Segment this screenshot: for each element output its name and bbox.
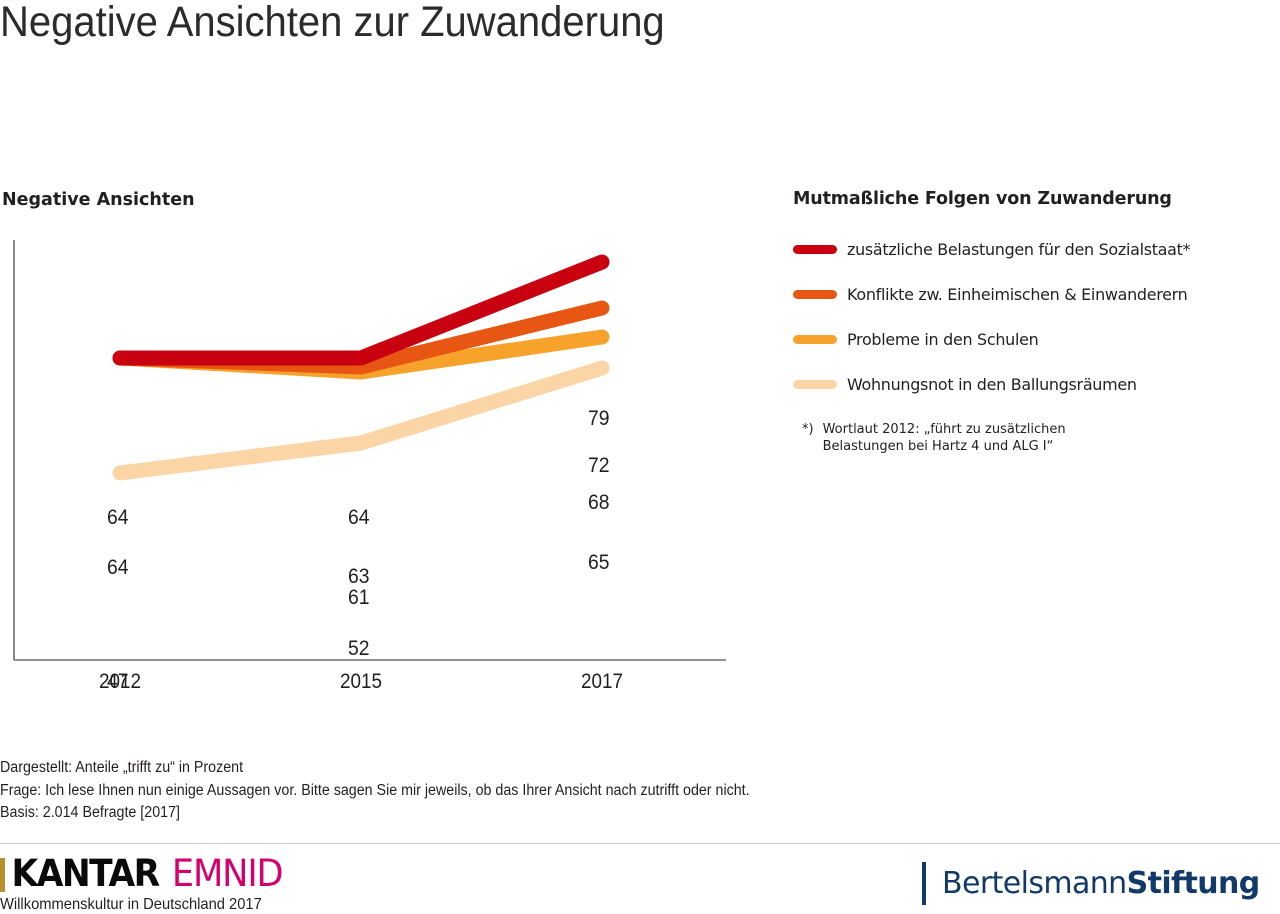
bertelsmann-bar-icon [922,862,926,905]
stiftung-wordmark: Stiftung [1127,866,1260,901]
x-axis-tick-2012: 2012 [99,670,141,694]
legend-swatch-icon [793,380,837,389]
line-chart-plot: 64 64 47 64 63 61 52 79 72 68 65 2012 20… [0,180,760,720]
kantar-bar-icon [0,858,5,892]
legend-swatch-icon [793,290,837,299]
chart-legend: Mutmaßliche Folgen von Zuwanderung zusät… [793,189,1280,455]
x-axis-tick-2017: 2017 [581,670,623,694]
legend-item-wohnungsnot: Wohnungsnot in den Ballungsräumen [793,373,1280,395]
page-title: Negative Ansichten zur Zuwanderung [0,0,665,47]
note-basis: Basis: 2.014 Befragte [2017] [0,802,1012,825]
bertelsmann-wordmark: Bertelsmann [942,866,1127,901]
x-axis-tick-2015: 2015 [340,670,382,694]
note-dargestellt: Dargestellt: Anteile „trifft zu“ in Proz… [0,757,1012,780]
footnote-marker: *) [802,421,814,455]
legend-footnote: *) Wortlaut 2012: „führt zu zusätzlichen… [802,421,1280,455]
value-label: 72 [588,453,610,478]
legend-item-label: Wohnungsnot in den Ballungsräumen [847,375,1137,394]
footer-divider [0,843,1280,844]
legend-item-sozialstaat: zusätzliche Belastungen für den Sozialst… [793,238,1280,260]
value-label: 61 [348,585,370,610]
logo-tagline: Willkommenskultur in Deutschland 2017 [0,896,263,914]
kantar-wordmark: KANTAR [12,852,159,895]
value-label: 64 [107,555,129,580]
series-line-wohnungsnot [120,368,602,473]
legend-item-label: Probleme in den Schulen [847,330,1038,349]
value-label: 52 [348,636,370,661]
legend-item-schulen: Probleme in den Schulen [793,328,1280,350]
chart-panel: Negative Ansichten 64 64 47 64 63 61 52 … [0,180,760,720]
emnid-wordmark: EMNID [172,852,283,895]
legend-swatch-icon [793,245,837,254]
note-frage: Frage: Ich lese Ihnen nun einige Aussage… [0,780,1012,803]
value-label: 65 [588,550,610,575]
value-label: 64 [348,505,370,530]
value-label: 64 [107,505,129,530]
footnote-text: Wortlaut 2012: „führt zu zusätzlichen Be… [823,421,1066,455]
value-label: 68 [588,490,610,515]
legend-title: Mutmaßliche Folgen von Zuwanderung [793,189,1280,209]
legend-item-konflikte: Konflikte zw. Einheimischen & Einwandere… [793,283,1280,305]
legend-swatch-icon [793,335,837,344]
chart-svg [0,180,760,720]
legend-item-label: Konflikte zw. Einheimischen & Einwandere… [847,285,1187,304]
legend-item-label: zusätzliche Belastungen für den Sozialst… [847,240,1190,259]
bertelsmann-stiftung-logo: Bertelsmann Stiftung [922,862,1260,905]
value-label: 79 [588,406,610,431]
kantar-emnid-logo: KANTAR EMNID Willkommenskultur in Deutsc… [0,852,286,914]
chart-notes: Dargestellt: Anteile „trifft zu“ in Proz… [0,757,1100,825]
